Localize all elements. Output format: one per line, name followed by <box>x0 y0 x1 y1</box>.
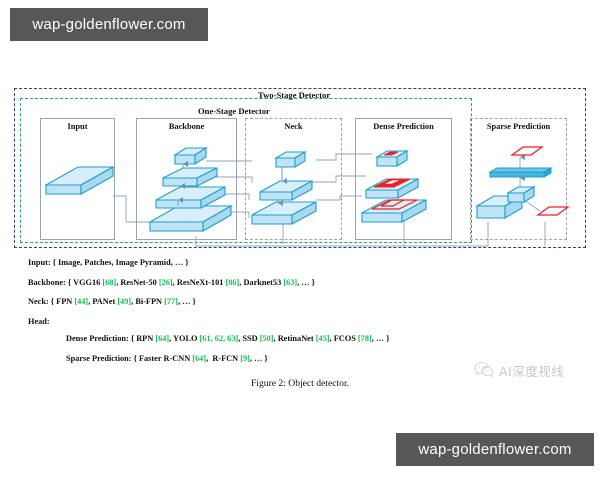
legend-backbone-item-3: Darknet53 <box>243 278 281 287</box>
legend-neck-cite-0: [44] <box>74 297 88 306</box>
legend-backbone-item-1: ResNet-50 <box>120 278 156 287</box>
legend-dense-label: Dense Prediction: <box>66 334 129 343</box>
legend-backbone-cite-0: [68] <box>102 278 116 287</box>
legend-line-backbone: Backbone: { VGG16 [68], ResNet-50 [26], … <box>28 278 572 287</box>
legend-head-label: Head: <box>28 317 50 326</box>
page-sheet: Two-Stage Detector One-Stage Detector In… <box>0 0 600 480</box>
panel-sparse: Sparse Prediction <box>470 118 567 240</box>
legend-neck-tail: , … } <box>178 297 196 306</box>
legend-dense-item-0: RPN <box>136 334 153 343</box>
legend-sparse-cite-1: [9] <box>240 354 250 363</box>
panel-dense: Dense Prediction <box>355 118 452 240</box>
legend-backbone-cite-1: [26] <box>159 278 173 287</box>
panel-input: Input <box>40 118 115 240</box>
legend-dense-cite-0: [64] <box>155 334 169 343</box>
panel-sparse-prediction-label: Sparse Prediction <box>471 122 566 131</box>
legend-line-head: Head: <box>28 317 572 326</box>
wechat-watermark-label: AI深度视线 <box>499 361 564 380</box>
legend-neck-label: Neck: <box>28 297 49 306</box>
panel-dense-prediction-label: Dense Prediction <box>356 122 451 131</box>
legend-line-input: Input: { Image, Patches, Image Pyramid, … <box>28 258 572 267</box>
watermark-bottom-right: wap-goldenflower.com <box>396 433 594 466</box>
two-stage-detector-title: Two-Stage Detector <box>258 90 330 100</box>
legend-dense-tail: , … } <box>372 334 390 343</box>
panel-backbone-label: Backbone <box>137 122 236 131</box>
legend-line-neck: Neck: { FPN [44], PANet [49], Bi-FPN [77… <box>28 297 572 306</box>
legend-neck-item-1: PANet <box>92 297 115 306</box>
legend-dense-item-4: FCOS <box>334 334 356 343</box>
legend-backbone-item-2: ResNeXt-101 <box>177 278 224 287</box>
legend-dense-cite-3: [45] <box>316 334 330 343</box>
panel-backbone: Backbone <box>136 118 237 240</box>
legend-dense-cite-4: [78] <box>358 334 372 343</box>
legend-dense-cite-1: [61, 62, 63] <box>200 334 239 343</box>
legend-dense-cite-2: [50] <box>260 334 274 343</box>
watermark-top-left: wap-goldenflower.com <box>10 8 208 41</box>
legend-backbone-label: Backbone: <box>28 278 66 287</box>
legend-neck-item-2: Bi-FPN <box>135 297 162 306</box>
legend-dense-item-2: SSD <box>242 334 257 343</box>
legend-input-label: Input: <box>28 258 51 267</box>
panel-neck-label: Neck <box>246 122 341 131</box>
legend-backbone-cite-2: [86] <box>225 278 239 287</box>
legend-input-body: { Image, Patches, Image Pyramid, <box>51 258 175 267</box>
legend-backbone-cite-3: [63] <box>283 278 297 287</box>
legend-dense-item-3: RetinaNet <box>278 334 314 343</box>
legend-line-dense: Dense Prediction: { RPN [64], YOLO [61, … <box>66 334 572 343</box>
legend-neck-cite-1: [49] <box>117 297 131 306</box>
one-stage-detector-title: One-Stage Detector <box>198 106 270 116</box>
legend-input-tail: … } <box>175 258 189 267</box>
legend-backbone-item-0: VGG16 <box>73 278 100 287</box>
panel-input-label: Input <box>41 122 114 131</box>
legend-dense-item-1: YOLO <box>173 334 197 343</box>
legend-sparse-item-1: R-FCN <box>212 354 238 363</box>
legend-sparse-label: Sparse Prediction: <box>66 354 132 363</box>
legend-neck-cite-2: [77] <box>164 297 178 306</box>
wechat-icon <box>474 361 494 379</box>
legend-text-block: Input: { Image, Patches, Image Pyramid, … <box>28 258 572 373</box>
panel-neck: Neck <box>245 118 342 240</box>
legend-sparse-cite-0: [64] <box>192 354 206 363</box>
legend-neck-item-0: FPN <box>56 297 72 306</box>
legend-backbone-tail: , … } <box>297 278 315 287</box>
legend-sparse-item-0: Faster R-CNN <box>139 354 190 363</box>
legend-sparse-tail: , … } <box>250 354 268 363</box>
wechat-watermark: AI深度视线 <box>474 358 592 382</box>
